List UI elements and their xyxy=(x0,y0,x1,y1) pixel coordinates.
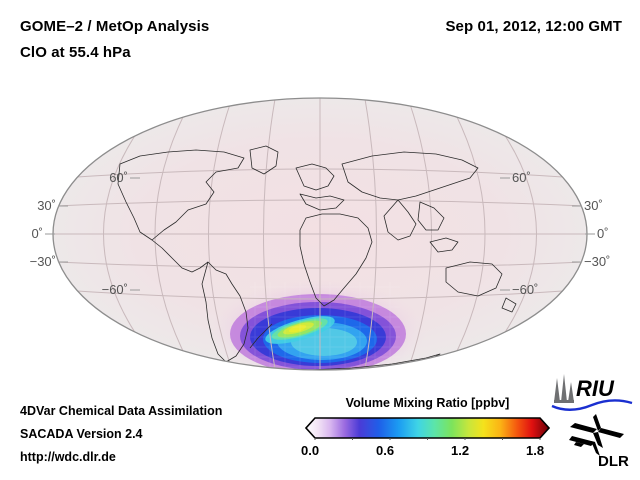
logo-block: RIU DLR xyxy=(548,372,634,472)
colorbar-tick-label: 1.8 xyxy=(526,443,544,458)
colorbar-tick-labels: 0.00.61.21.8 xyxy=(305,443,550,459)
lat-label-right-0: 0˚ xyxy=(597,226,609,241)
colorbar-tick-label: 0.0 xyxy=(301,443,319,458)
lat-label-left-minus30: −30˚ xyxy=(30,254,56,269)
footer-credits: 4DVar Chemical Data Assimilation SACADA … xyxy=(20,400,222,469)
dlr-logo-text: DLR xyxy=(598,453,629,470)
clo-concentration-field xyxy=(210,280,426,384)
lat-label-right-30: 30˚ xyxy=(584,198,603,213)
world-map: 60˚ 30˚ 0˚ −30˚ −60˚ 60˚ 30˚ 0˚ −30˚ −60… xyxy=(0,72,640,384)
footer-line-1: 4DVar Chemical Data Assimilation xyxy=(20,400,222,423)
colorbar-tick-label: 0.6 xyxy=(376,443,394,458)
map-panel: 60˚ 30˚ 0˚ −30˚ −60˚ 60˚ 30˚ 0˚ −30˚ −60… xyxy=(0,72,640,384)
lat-label-right-minus30: −30˚ xyxy=(584,254,610,269)
colorbar: Volume Mixing Ratio [ppbv] 0.00.61.21.8 xyxy=(305,396,555,459)
page-subtitle: ClO at 55.4 hPa xyxy=(20,44,131,61)
graticule xyxy=(53,98,587,370)
colorbar-gradient xyxy=(305,416,550,440)
lat-label-left-30: 30˚ xyxy=(37,198,56,213)
lat-label-right-60: 60˚ xyxy=(512,170,531,185)
figure-canvas: GOME–2 / MetOp Analysis ClO at 55.4 hPa … xyxy=(0,0,640,480)
lat-label-right-minus60: −60˚ xyxy=(512,282,538,297)
footer-url[interactable]: http://wdc.dlr.de xyxy=(20,446,222,469)
riu-logo: RIU xyxy=(548,372,634,414)
footer-line-2: SACADA Version 2.4 xyxy=(20,423,222,446)
timestamp-label: Sep 01, 2012, 12:00 GMT xyxy=(445,18,622,35)
page-title: GOME–2 / MetOp Analysis xyxy=(20,18,209,35)
riu-logo-text: RIU xyxy=(576,376,615,401)
lat-label-left-minus60: −60˚ xyxy=(102,282,128,297)
colorbar-title: Volume Mixing Ratio [ppbv] xyxy=(305,396,550,410)
dlr-logo: DLR xyxy=(562,412,632,470)
colorbar-tick-label: 1.2 xyxy=(451,443,469,458)
lat-label-left-0: 0˚ xyxy=(31,226,43,241)
lat-label-left-60: 60˚ xyxy=(109,170,128,185)
